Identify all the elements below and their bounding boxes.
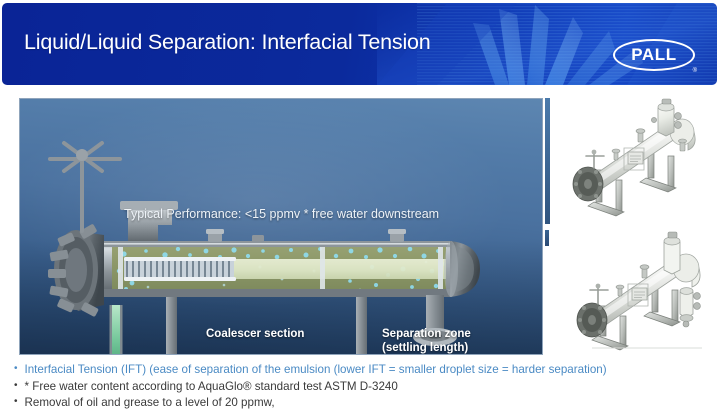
- photo-edge-sliver-top: [545, 98, 550, 224]
- bullet-item-2: • * Free water content according to Aqua…: [14, 379, 714, 396]
- bullet-text-3: Removal of oil and grease to a level of …: [25, 395, 275, 411]
- bullet-item-1: • Interfacial Tension (IFT) (ease of sep…: [14, 362, 714, 379]
- page-title: Liquid/Liquid Separation: Interfacial Te…: [24, 30, 431, 55]
- bullet-marker-icon: •: [14, 378, 18, 395]
- water-drain-pipe: [20, 305, 116, 355]
- label-separation-line2: (settling length): [382, 342, 471, 356]
- vessel-supports: [158, 295, 378, 355]
- cad-vessel-render-2: [552, 230, 714, 354]
- label-separation-zone: Separation zone (settling length): [382, 328, 471, 355]
- top-nozzles: [206, 229, 406, 242]
- pall-logo: PALL ®: [613, 39, 695, 71]
- vessel-shell: [104, 241, 452, 297]
- slide: Liquid/Liquid Separation: Interfacial Te…: [0, 0, 719, 411]
- coalescer-cutaway-image: Typical Performance: <15 ppmv * free wat…: [19, 98, 543, 355]
- header-banner: Liquid/Liquid Separation: Interfacial Te…: [2, 3, 717, 85]
- baffle-outlet: [438, 246, 443, 291]
- label-separation-line1: Separation zone: [382, 328, 471, 342]
- performance-caption: Typical Performance: <15 ppmv * free wat…: [124, 207, 439, 221]
- photo-edge-sliver-bottom: [545, 230, 549, 246]
- cad-vessel-render-1: [552, 98, 714, 222]
- baffle-inlet: [118, 246, 123, 291]
- vessel-illustration: [20, 99, 543, 355]
- bullet-list: • Interfacial Tension (IFT) (ease of sep…: [14, 362, 714, 411]
- bullet-marker-icon: •: [14, 361, 18, 378]
- bullet-text-1: Interfacial Tension (IFT) (ease of separ…: [25, 362, 607, 379]
- bullet-marker-icon: •: [14, 394, 18, 411]
- bullet-text-2: * Free water content according to AquaGl…: [25, 379, 398, 396]
- bullet-item-3: • Removal of oil and grease to a level o…: [14, 395, 714, 411]
- vessel-end-cap-right: [444, 241, 480, 297]
- label-coalescer-section: Coalescer section: [206, 328, 304, 340]
- baffle-mid: [320, 246, 325, 291]
- registered-mark-icon: ®: [693, 68, 697, 74]
- logo-text: PALL: [613, 39, 695, 71]
- coalescer-cartridges: [124, 257, 236, 281]
